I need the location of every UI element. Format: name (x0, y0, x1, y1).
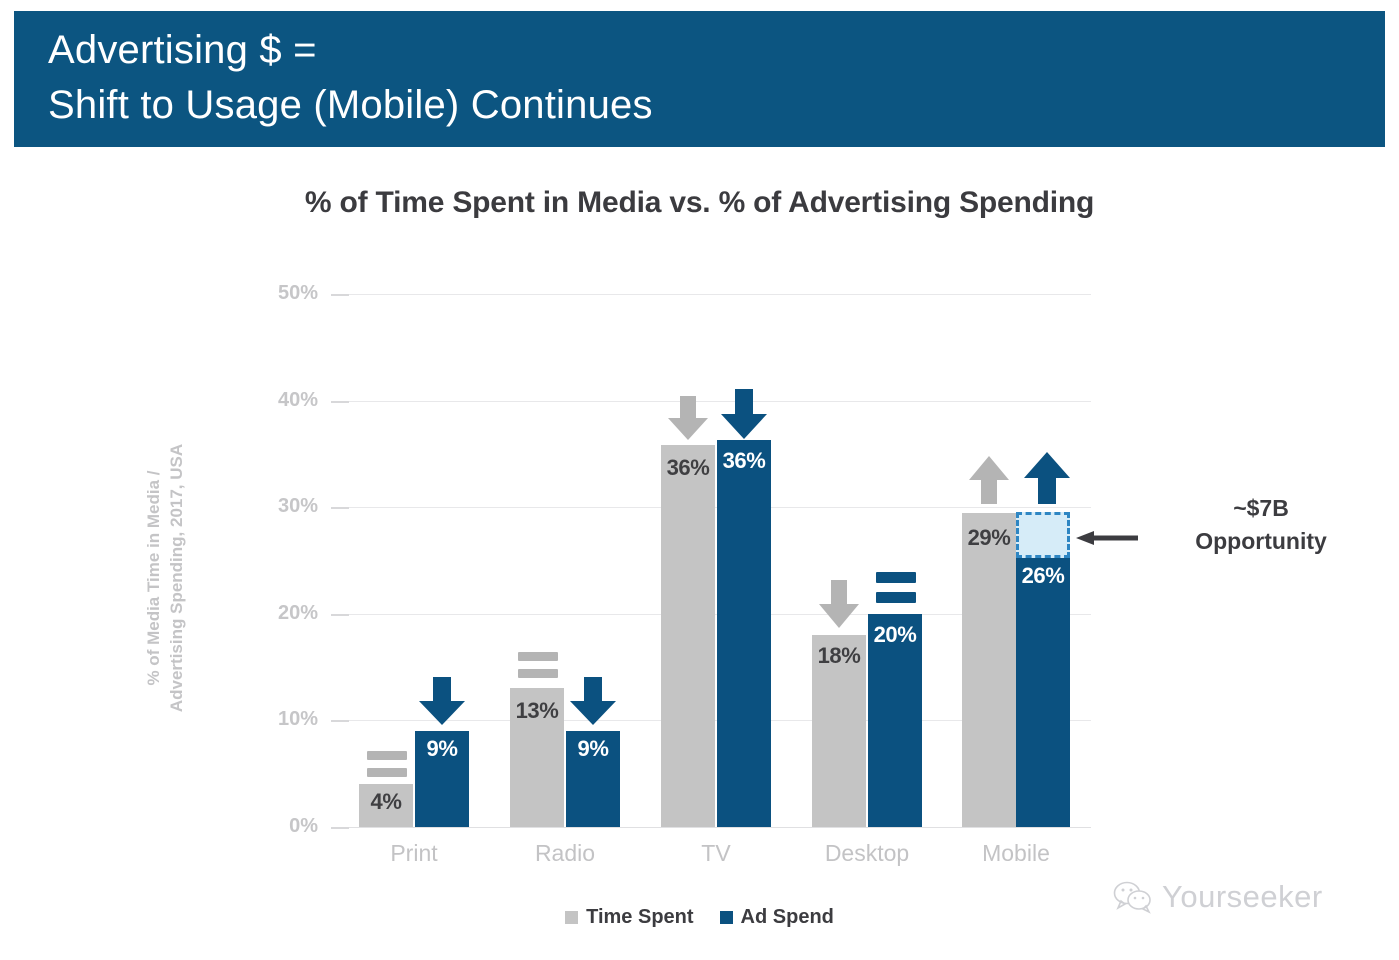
trend-equals-icon-print-time-spent (367, 751, 407, 777)
trend-down-arrow-icon-radio-ad-spend (566, 677, 620, 727)
watermark: Yourseeker (1113, 879, 1323, 915)
annotation-arrow-icon (1076, 531, 1138, 545)
bar-label-mobile-ad-spend: 26% (1016, 563, 1070, 589)
ytick-label-10: 10% (198, 708, 318, 731)
xtick-label-radio: Radio (495, 840, 635, 867)
chart-plot-area: 50% 40% 30% 20% 10% 0% % of Media Time i… (0, 0, 1399, 960)
tick-dash-30 (331, 507, 349, 509)
legend-item-time-spent[interactable]: Time Spent (565, 906, 693, 929)
legend-label-ad-spend: Ad Spend (741, 906, 834, 929)
ytick-label-50: 50% (198, 282, 318, 305)
opportunity-annotation: ~$7B Opportunity (1146, 492, 1376, 558)
xtick-label-print: Print (344, 840, 484, 867)
wechat-icon (1113, 880, 1153, 914)
trend-down-arrow-icon-desktop-time-spent (816, 580, 862, 630)
xtick-label-mobile: Mobile (946, 840, 1086, 867)
opportunity-box[interactable] (1016, 512, 1070, 558)
slide: Advertising $ = Shift to Usage (Mobile) … (0, 0, 1399, 960)
bar-label-tv-time-spent: 36% (661, 455, 715, 481)
ytick-label-40: 40% (198, 389, 318, 412)
ytick-label-30: 30% (198, 495, 318, 518)
opportunity-label: Opportunity (1146, 525, 1376, 558)
gridline-50 (331, 294, 1091, 295)
trend-equals-icon-desktop-ad-spend (876, 572, 916, 603)
trend-down-arrow-icon-tv-ad-spend (717, 389, 771, 441)
legend-item-ad-spend[interactable]: Ad Spend (720, 906, 834, 929)
y-axis-title: % of Media Time in Media / Advertising S… (142, 378, 188, 778)
gridline-40 (331, 401, 1091, 402)
gridline-0 (331, 827, 1091, 828)
bar-mobile-time-spent[interactable] (962, 513, 1016, 827)
tick-dash-20 (331, 614, 349, 616)
watermark-text: Yourseeker (1162, 879, 1323, 915)
legend-swatch-ad-spend (720, 911, 733, 924)
bar-label-print-time-spent: 4% (359, 789, 413, 815)
ytick-label-0: 0% (198, 815, 318, 838)
legend-swatch-time-spent (565, 911, 578, 924)
bar-label-tv-ad-spend: 36% (717, 448, 771, 474)
trend-down-arrow-icon-tv-time-spent (665, 396, 711, 442)
legend-label-time-spent: Time Spent (586, 906, 693, 929)
bar-label-desktop-time-spent: 18% (812, 643, 866, 669)
opportunity-amount: ~$7B (1146, 492, 1376, 525)
bar-label-desktop-ad-spend: 20% (868, 622, 922, 648)
trend-up-arrow-icon-mobile-time-spent (966, 456, 1012, 506)
bar-mobile-ad-spend[interactable] (1016, 556, 1070, 827)
bar-label-radio-ad-spend: 9% (566, 736, 620, 762)
xtick-label-tv: TV (646, 840, 786, 867)
bar-label-print-ad-spend: 9% (415, 736, 469, 762)
xtick-label-desktop: Desktop (797, 840, 937, 867)
ytick-label-20: 20% (198, 602, 318, 625)
bar-label-mobile-time-spent: 29% (962, 525, 1016, 551)
trend-up-arrow-icon-mobile-ad-spend (1020, 452, 1074, 506)
tick-dash-10 (331, 720, 349, 722)
tick-dash-50 (331, 294, 349, 296)
bar-label-radio-time-spent: 13% (510, 698, 564, 724)
bar-tv-ad-spend[interactable] (717, 440, 771, 827)
tick-dash-0 (331, 827, 349, 829)
trend-down-arrow-icon-print-ad-spend (415, 677, 469, 727)
trend-equals-icon-radio-time-spent (518, 652, 558, 678)
bar-tv-time-spent[interactable] (661, 445, 715, 827)
tick-dash-40 (331, 401, 349, 403)
